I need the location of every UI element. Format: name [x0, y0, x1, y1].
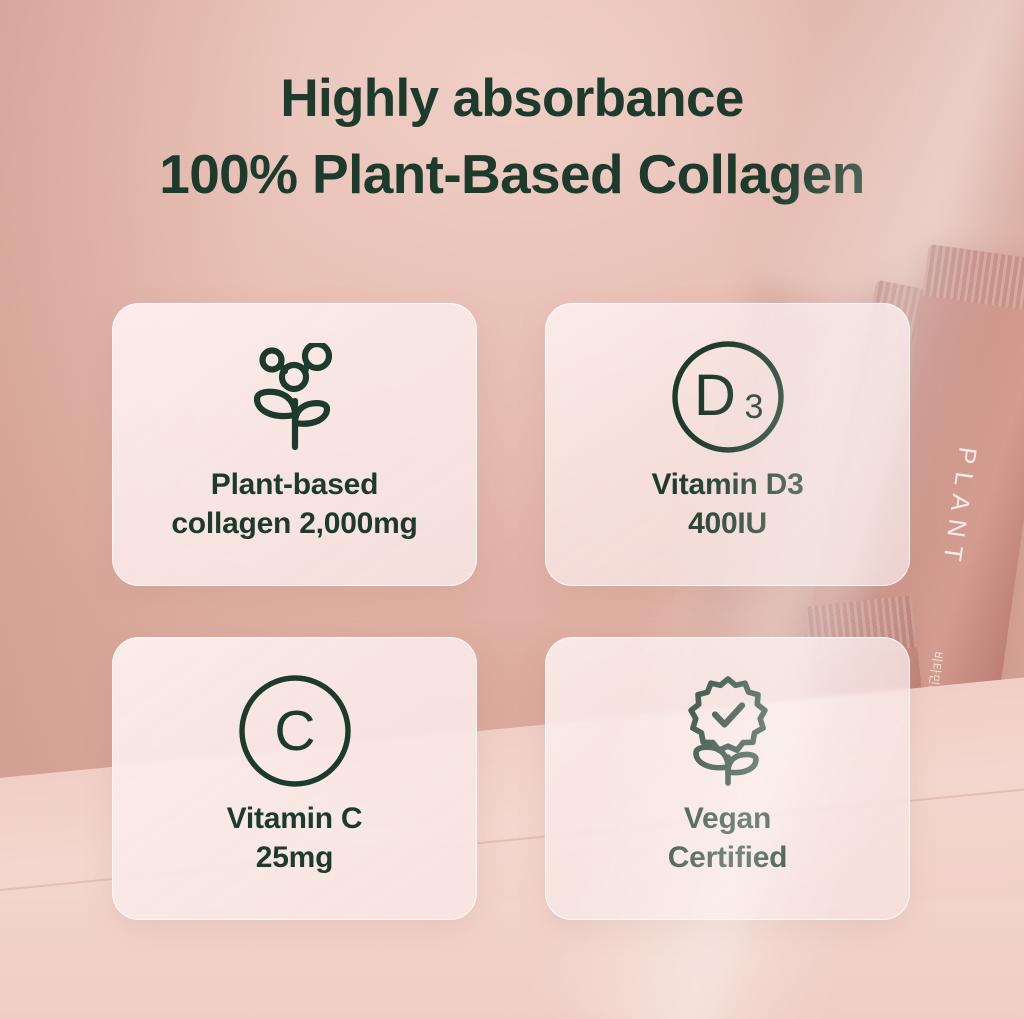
headline-line-2: 100% Plant-Based Collagen	[0, 136, 1024, 212]
feature-card-vitamin-d3[interactable]: D 3 Vitamin D3 400IU	[545, 303, 910, 586]
svg-text:D: D	[694, 363, 736, 428]
svg-text:3: 3	[744, 388, 763, 426]
svg-text:C: C	[274, 699, 315, 763]
feature-card-label: Vegan Certified	[668, 799, 788, 877]
headline-line-1: Highly absorbance	[280, 69, 743, 128]
page-title: Highly absorbance 100% Plant-Based Colla…	[0, 62, 1024, 212]
product-feature-graphic: PLANT 비타민D 400IU 함유 Highly absorbance 10…	[0, 0, 1024, 1019]
feature-card-plant-based-collagen[interactable]: Plant-based collagen 2,000mg	[112, 303, 477, 586]
vegan-certified-badge-icon	[676, 677, 780, 785]
feature-card-label: Vitamin C 25mg	[227, 799, 363, 877]
feature-card-vitamin-c[interactable]: C Vitamin C 25mg	[112, 637, 477, 920]
vitamin-d3-circle-icon: D 3	[670, 343, 786, 451]
sachet-brand-label: PLANT	[936, 445, 982, 571]
vitamin-c-circle-icon: C	[237, 677, 353, 785]
sachet-crimp-edge	[922, 244, 1024, 314]
plant-molecule-sprout-icon	[243, 343, 347, 451]
feature-card-label: Vitamin D3 400IU	[651, 465, 803, 543]
feature-card-label: Plant-based collagen 2,000mg	[171, 465, 417, 543]
feature-card-vegan-certified[interactable]: Vegan Certified	[545, 637, 910, 920]
